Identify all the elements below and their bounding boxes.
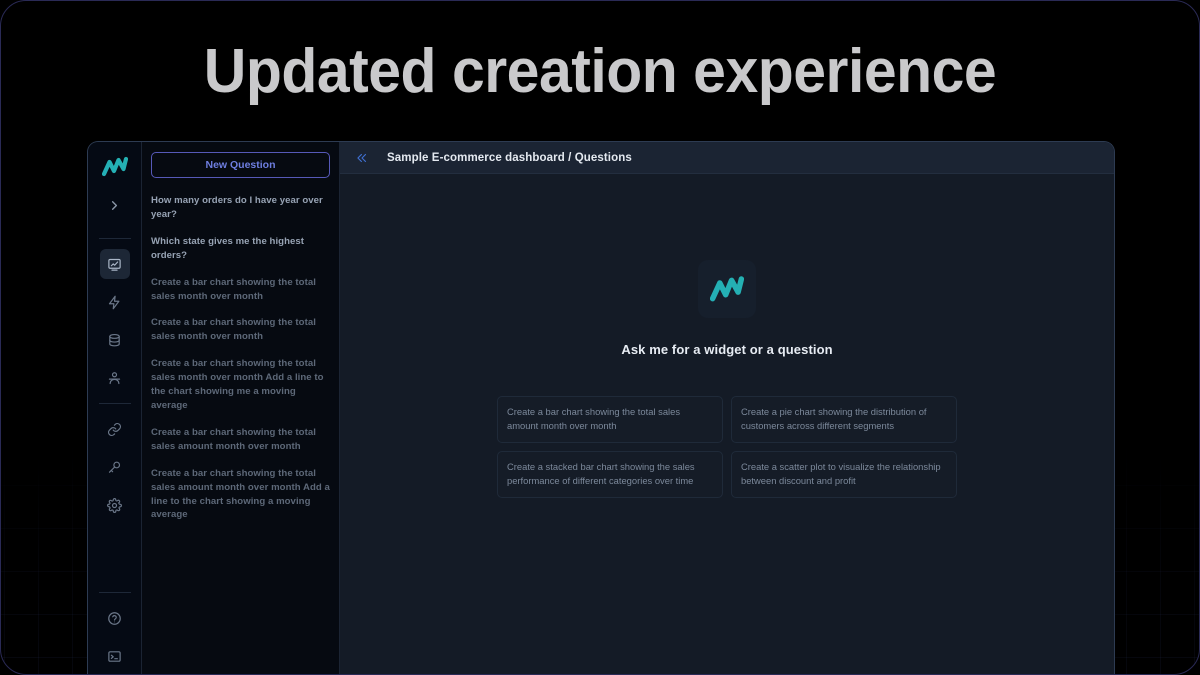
sidebar-item-users[interactable] [100, 363, 130, 393]
suggestion-card[interactable]: Create a bar chart showing the total sal… [497, 396, 723, 443]
lightning-bolt-icon [107, 295, 122, 310]
topbar: Sample E-commerce dashboard / Questions [340, 142, 1114, 174]
sidebar-item-console[interactable] [100, 641, 130, 671]
rail-divider-top [99, 238, 131, 239]
collapse-sidebar-button[interactable] [352, 148, 371, 167]
sidebar-item-dashboard[interactable] [100, 249, 130, 279]
suggestion-card[interactable]: Create a scatter plot to visualize the r… [731, 451, 957, 498]
sidebar-item-help[interactable] [100, 603, 130, 633]
gear-icon [107, 498, 122, 513]
rail-divider-middle [99, 403, 131, 404]
sidebar-item-automations[interactable] [100, 287, 130, 317]
list-item[interactable]: Create a bar chart showing the total sal… [151, 276, 330, 304]
database-icon [107, 333, 122, 348]
sidebar-item-settings[interactable] [100, 490, 130, 520]
list-item[interactable]: How many orders do I have year over year… [151, 194, 330, 222]
empty-state: Ask me for a widget or a question Create… [340, 174, 1114, 675]
main-content-column: Sample E-commerce dashboard / Questions [340, 142, 1114, 675]
new-question-button[interactable]: New Question [151, 152, 330, 178]
app-window: New Question How many orders do I have y… [87, 141, 1115, 675]
screenshot-frame: Updated creation experience [0, 0, 1200, 675]
help-circle-icon [107, 611, 122, 626]
sidebar-item-connections[interactable] [100, 414, 130, 444]
suggestion-card[interactable]: Create a stacked bar chart showing the s… [497, 451, 723, 498]
empty-state-title: Ask me for a widget or a question [621, 342, 832, 357]
key-icon [107, 460, 122, 475]
list-item[interactable]: Create a bar chart showing the total sal… [151, 316, 330, 344]
rail-divider-bottom [99, 592, 131, 593]
sidebar-item-api-keys[interactable] [100, 452, 130, 482]
rail-bottom-group [99, 586, 131, 675]
breadcrumb: Sample E-commerce dashboard / Questions [387, 152, 632, 164]
list-item[interactable]: Create a bar chart showing the total sal… [151, 357, 330, 413]
sidebar-item-data-sources[interactable] [100, 325, 130, 355]
expand-sidebar-button[interactable] [100, 190, 130, 220]
suggestion-card[interactable]: Create a pie chart showing the distribut… [731, 396, 957, 443]
empty-state-logo [698, 260, 756, 318]
link-icon [107, 422, 122, 437]
list-item[interactable]: Which state gives me the highest orders? [151, 235, 330, 263]
page-title: Updated creation experience [31, 39, 1169, 104]
list-item[interactable]: Create a bar chart showing the total sal… [151, 426, 330, 454]
list-item[interactable]: Create a bar chart showing the total sal… [151, 467, 330, 523]
app-logo[interactable] [98, 150, 132, 184]
suggestion-grid: Create a bar chart showing the total sal… [497, 396, 957, 498]
question-list-panel: New Question How many orders do I have y… [142, 142, 340, 675]
terminal-icon [107, 649, 122, 664]
icon-rail [88, 142, 142, 675]
users-icon [107, 371, 122, 386]
dashboard-icon [107, 257, 122, 272]
